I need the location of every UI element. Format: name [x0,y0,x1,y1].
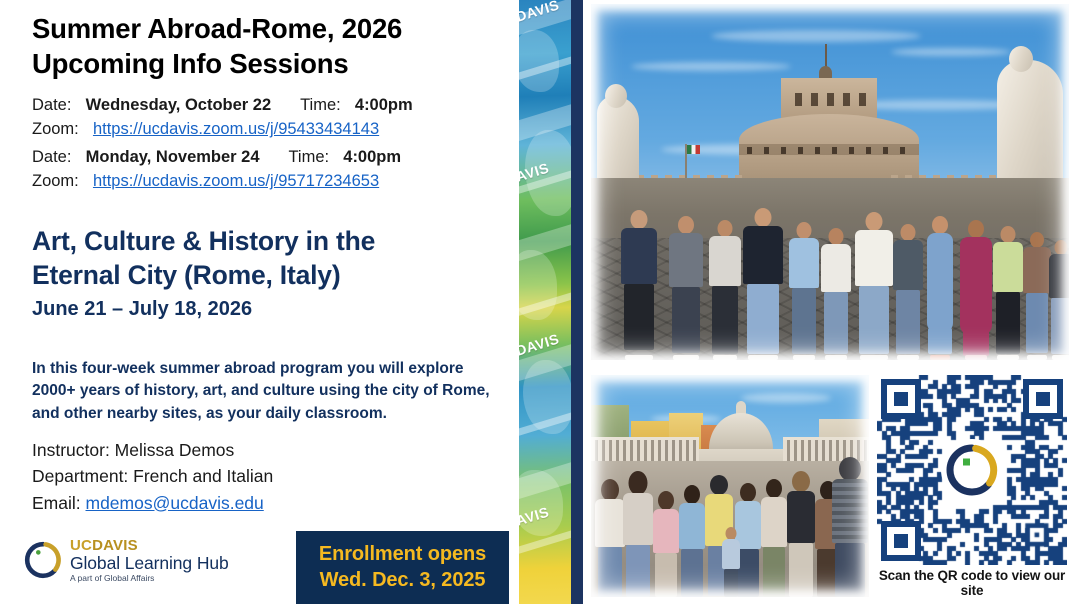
session-1-time-value: 4:00pm [355,96,413,114]
logo-ucdavis-text: UCDAVIS [70,538,229,553]
headline-line-1: Summer Abroad-Rome, 2026 [32,12,492,47]
session-1-zoom-link[interactable]: https://ucdavis.zoom.us/j/95433434143 [93,120,379,138]
group-person [619,210,659,360]
headline-line-2: Upcoming Info Sessions [32,47,492,82]
session-1-date-label: Date: [32,96,71,114]
group-person [991,226,1025,360]
info-session-2: Date: Monday, November 24 Time: 4:00pm Z… [32,146,502,194]
photo-castel-santangelo-group [591,4,1069,360]
ucdavis-circle-logo-icon [22,539,64,581]
program-title-line-1: Art, Culture & History in the [32,224,502,258]
instructor-line: Instructor: Melissa Demos [32,437,273,463]
session-2-zoom-link[interactable]: https://ucdavis.zoom.us/j/95717234653 [93,172,379,190]
session-1-time-label: Time: [300,96,341,114]
qr-code-block: Scan the QR code to view our site [872,375,1072,597]
session-2-time-value: 4:00pm [343,148,401,166]
logo-wordmark: UCDAVIS Global Learning Hub A part of Gl… [70,538,229,583]
session-1-zoom-label: Zoom: [32,120,79,138]
logo-tagline: A part of Global Affairs [70,574,229,583]
program-dates: June 21 – July 18, 2026 [32,298,252,321]
enrollment-line-1: Enrollment opens [319,542,486,568]
angel-statue-right-head [1009,46,1033,72]
qr-code-image[interactable] [877,375,1067,565]
contact-block: Instructor: Melissa Demos Department: Fr… [32,437,273,516]
qr-finder-top-left [881,379,921,419]
group-person [707,220,743,360]
logo-uc-text: UC [70,537,92,554]
enrollment-line-2: Wed. Dec. 3, 2025 [320,568,486,594]
session-1-date-value: Wednesday, October 22 [86,96,272,114]
email-link[interactable]: mdemos@ucdavis.edu [86,493,264,513]
left-text-panel: Summer Abroad-Rome, 2026 Upcoming Info S… [0,0,519,604]
angel-statue-right [997,60,1063,184]
group-person [853,212,895,360]
email-label: Email: [32,493,81,513]
italian-flag [687,145,700,154]
enrollment-badge: Enrollment opens Wed. Dec. 3, 2025 [296,531,509,604]
flyer-canvas: Summer Abroad-Rome, 2026 Upcoming Info S… [0,0,1075,604]
group-person [667,216,705,360]
qr-center-ucdavis-logo-icon [941,439,1003,501]
group-person [1047,240,1069,360]
program-title: Art, Culture & History in the Eternal Ci… [32,224,502,293]
tour-person-foreground [831,457,869,597]
qr-caption: Scan the QR code to view our site [872,568,1072,598]
department-line: Department: French and Italian [32,463,273,489]
decorative-world-map-strip: DAVIS AVIS DAVIS AVIS [519,0,571,604]
qr-finder-top-right [1023,379,1063,419]
tour-person [621,471,655,597]
group-person [741,208,785,360]
group-person [819,228,853,360]
tour-guide [721,527,741,597]
ucdavis-global-learning-hub-logo: UCDAVIS Global Learning Hub A part of Gl… [22,534,252,586]
session-2-date-label: Date: [32,148,71,166]
logo-unit-name: Global Learning Hub [70,555,229,573]
right-photo-panel: Scan the QR code to view our site [585,0,1075,604]
angel-statue-left-head [605,84,627,108]
session-2-date-value: Monday, November 24 [86,148,260,166]
qr-finder-bottom-left [881,521,921,561]
navy-divider-bar [571,0,583,604]
page-title: Summer Abroad-Rome, 2026 Upcoming Info S… [32,12,492,82]
email-line: Email: mdemos@ucdavis.edu [32,490,273,516]
session-2-zoom-label: Zoom: [32,172,79,190]
info-session-1: Date: Wednesday, October 22 Time: 4:00pm… [32,94,502,142]
logo-davis-text: DAVIS [92,537,138,554]
program-description: In this four-week summer abroad program … [32,358,510,425]
group-person [921,216,959,360]
group-person [891,224,925,360]
session-2-time-label: Time: [288,148,329,166]
photo-piazza-del-plebiscito-tour [591,375,869,597]
program-title-line-2: Eternal City (Rome, Italy) [32,258,502,292]
group-person [957,220,995,360]
group-person [787,222,821,360]
